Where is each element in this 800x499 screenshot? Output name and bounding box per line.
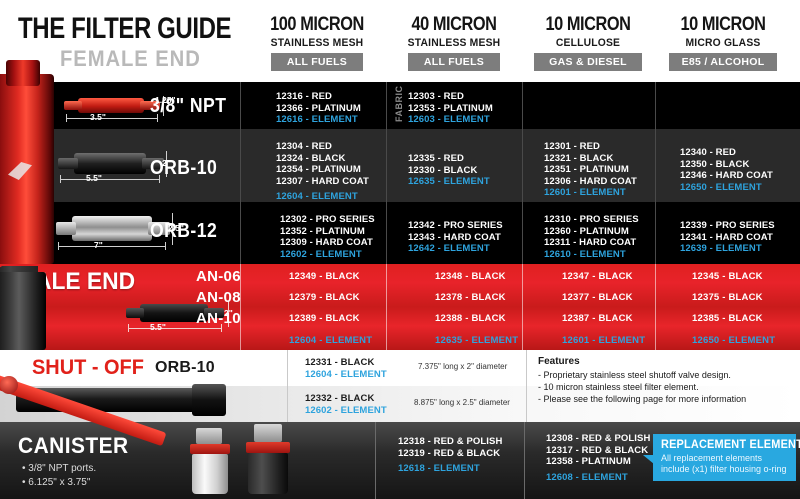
shutoff-tube-end	[192, 384, 226, 416]
fitting-name: ORB-12	[150, 220, 217, 243]
feature-item: - Please see the following page for more…	[538, 393, 746, 405]
fitting-name: AN-10	[196, 310, 241, 327]
fitting-name: 3/8" NPT	[150, 95, 226, 118]
table-row: 3.5" 1.25" 3/8" NPT 12316 - RED 12366 - …	[0, 82, 800, 129]
table-row: AN-06 12349 - BLACK 12348 - BLACK 12347 …	[0, 268, 800, 289]
fabric-label: FABRIC	[394, 91, 404, 122]
table-row: 7" 2.5" ORB-12 12302 - PRO SERIES 12352 …	[0, 202, 800, 264]
shutoff-dimensions: 8.875" long x 2.5" diameter	[414, 398, 510, 407]
cell-shutoff-codes: 12332 - BLACK 12602 - ELEMENT	[305, 393, 387, 416]
feature-item: - 10 micron stainless steel filter eleme…	[538, 381, 746, 393]
column-header-100-micron: 100 MICRON STAINLESS MESH ALL FUELS	[252, 14, 382, 71]
fuel-badge: GAS & DIESEL	[534, 53, 642, 71]
badge-line-2: include (x1) filter housing o-ring	[661, 464, 790, 475]
page-header: THE FILTER GUIDE FEMALE END 100 MICRON S…	[0, 0, 800, 82]
red-bottle-cap-graphic	[6, 60, 40, 86]
cell-shutoff-codes: 12331 - BLACK 12604 - ELEMENT	[305, 357, 387, 380]
fitting-name: AN-08	[196, 289, 241, 306]
feature-item: - Proprietary stainless steel shutoff va…	[538, 369, 746, 381]
features-block: Features - Proprietary stainless steel s…	[538, 356, 746, 405]
shutoff-valve-graphic	[0, 370, 236, 420]
features-title: Features	[538, 356, 746, 367]
fuel-badge: E85 / ALCOHOL	[669, 53, 777, 71]
shutoff-pivot	[0, 376, 18, 394]
page-title: THE FILTER GUIDE	[18, 12, 231, 46]
column-header-10-micron-micro-glass: 10 MICRON MICRO GLASS E85 / ALCOHOL	[658, 14, 788, 71]
badge-line-1: All replacement elements	[661, 453, 790, 464]
canister-image-polish	[186, 428, 234, 494]
section-label-canister: CANISTER	[18, 433, 129, 459]
replacement-elements-badge: REPLACEMENT ELEMENTS All replacement ele…	[653, 434, 796, 481]
section-label-female-end: FEMALE END	[60, 46, 201, 72]
female-end-section: 3.5" 1.25" 3/8" NPT 12316 - RED 12366 - …	[0, 82, 800, 264]
filter-guide-page: THE FILTER GUIDE FEMALE END 100 MICRON S…	[0, 0, 800, 499]
fitting-name: ORB-10	[150, 157, 217, 180]
table-row: AN-08 12379 - BLACK 12378 - BLACK 12377 …	[0, 289, 800, 310]
canister-bullet: • 3/8" NPT ports.	[22, 463, 96, 474]
an-fitting-body-graphic	[0, 272, 46, 350]
male-end-section: MALE END 5.5" 2" AN-06 12349 - BLACK 123…	[0, 264, 800, 350]
fitting-name: AN-06	[196, 268, 241, 285]
cell-canister-100-micron: 12318 - RED & POLISH 12319 - RED & BLACK…	[398, 436, 502, 475]
cell-canister-10-micron: 12308 - RED & POLISH 12317 - RED & BLACK…	[546, 433, 650, 483]
canister-bullet: • 6.125" x 3.75"	[22, 477, 90, 488]
fuel-badge: ALL FUELS	[408, 53, 500, 71]
shutoff-dimensions: 7.375" long x 2" diameter	[418, 362, 507, 371]
fuel-badge: ALL FUELS	[271, 53, 363, 71]
badge-title: REPLACEMENT ELEMENTS	[661, 439, 784, 451]
column-header-40-micron: 40 MICRON STAINLESS MESH ALL FUELS	[389, 14, 519, 71]
canister-image-black	[242, 424, 294, 494]
column-header-10-micron-cellulose: 10 MICRON CELLULOSE GAS & DIESEL	[523, 14, 653, 71]
table-row: 5.5" 2" ORB-10 12304 - RED 12324 - BLACK…	[0, 129, 800, 202]
table-row: AN-10 12389 - BLACK 12388 - BLACK 12387 …	[0, 310, 800, 331]
